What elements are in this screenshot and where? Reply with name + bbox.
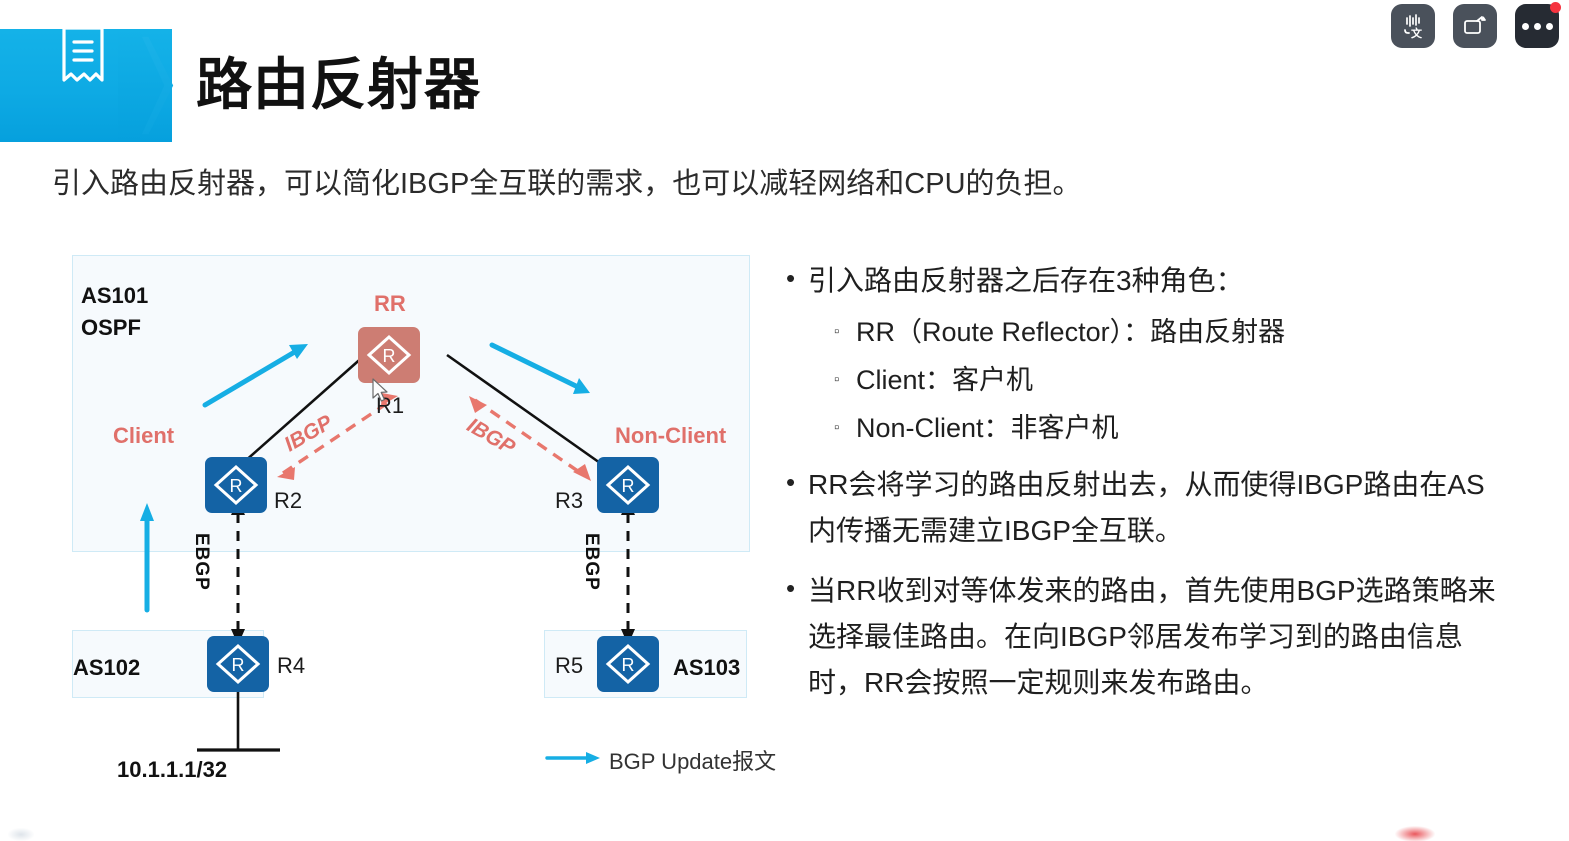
network-topology-diagram: R R R R R AS10 — [55, 245, 775, 790]
mouse-cursor — [371, 378, 389, 409]
bullet-item: • RR会将学习的路由反射出去，从而使得IBGP路由在AS内传播无需建立IBGP… — [786, 462, 1546, 554]
translate-subtitle-button[interactable]: 文 — [1391, 4, 1435, 48]
bullet-item: • 引入路由反射器之后存在3种角色： — [786, 258, 1546, 304]
legend-label: BGP Update报文 — [609, 744, 776, 776]
footer-logo-partial — [1395, 826, 1435, 841]
bullet-text: RR会将学习的路由反射出去，从而使得IBGP路由在AS内传播无需建立IBGP全互… — [808, 462, 1498, 554]
bullet-text: 当RR收到对等体发来的路由，首先使用BGP选路策略来选择最佳路由。在向IBGP邻… — [808, 568, 1498, 706]
svg-text:R: R — [622, 655, 635, 675]
bullet-marker-icon: • — [786, 462, 808, 502]
bullet-marker-icon: • — [786, 568, 808, 608]
router-r4[interactable]: R — [207, 636, 269, 692]
picture-in-picture-icon — [1462, 14, 1488, 38]
document-receipt-icon — [52, 22, 114, 99]
slide-subtitle: 引入路由反射器，可以简化IBGP全互联的需求，也可以减轻网络和CPU的负担。 — [52, 160, 1082, 202]
router-r3-nonclient[interactable]: R — [597, 457, 659, 513]
bullet-marker-icon: • — [786, 258, 808, 298]
sub-bullet-item: ▫ RR（Route Reflector）：路由反射器 — [834, 312, 1546, 352]
svg-text:文: 文 — [1411, 26, 1423, 39]
sub-bullet-text: Client：客户机 — [856, 360, 1033, 400]
bullet-text: 引入路由反射器之后存在3种角色： — [808, 258, 1244, 304]
footer-mark-partial — [8, 828, 34, 841]
router-r2-client[interactable]: R — [205, 457, 267, 513]
router-r1-rr[interactable]: R — [358, 327, 420, 383]
router-r5-label: R5 — [555, 653, 583, 679]
ebgp-right-label: EBGP — [580, 533, 602, 591]
ebgp-left-label: EBGP — [190, 533, 212, 591]
sub-bullet-item: ▫ Client：客户机 — [834, 360, 1546, 400]
sub-bullet-text: Non-Client：非客户机 — [856, 408, 1119, 448]
svg-text:R: R — [383, 346, 396, 366]
svg-text:R: R — [232, 655, 245, 675]
notification-dot — [1550, 2, 1561, 13]
as101-label: AS101 — [81, 283, 148, 309]
floating-toolbar: 文 — [1391, 4, 1559, 48]
more-options-button[interactable] — [1515, 4, 1559, 48]
router-r4-label: R4 — [277, 653, 305, 679]
bullet-panel: • 引入路由反射器之后存在3种角色： ▫ RR（Route Reflector）… — [786, 258, 1546, 710]
router-r5[interactable]: R — [597, 636, 659, 692]
network-prefix-label: 10.1.1.1/32 — [117, 757, 227, 783]
picture-in-picture-button[interactable] — [1453, 4, 1497, 48]
translate-subtitle-icon: 文 — [1400, 13, 1426, 39]
sub-bullet-text: RR（Route Reflector）：路由反射器 — [856, 312, 1285, 352]
sub-bullet-marker-icon: ▫ — [834, 312, 856, 352]
more-options-icon — [1522, 23, 1553, 30]
bullet-item: • 当RR收到对等体发来的路由，首先使用BGP选路策略来选择最佳路由。在向IBG… — [786, 568, 1546, 706]
nonclient-role-label: Non-Client — [615, 423, 726, 449]
sub-bullet-item: ▫ Non-Client：非客户机 — [834, 408, 1546, 448]
svg-text:R: R — [622, 476, 635, 496]
svg-text:R: R — [230, 476, 243, 496]
page-title: 路由反射器 — [196, 40, 481, 121]
router-r2-label: R2 — [274, 488, 302, 514]
client-role-label: Client — [113, 423, 174, 449]
as102-label: AS102 — [73, 655, 140, 681]
ospf-label: OSPF — [81, 315, 141, 341]
sub-bullet-marker-icon: ▫ — [834, 408, 856, 448]
as103-label: AS103 — [673, 655, 740, 681]
router-r3-label: R3 — [555, 488, 583, 514]
slide-root: 文 路由反射器 — [0, 0, 1569, 841]
rr-role-label: RR — [374, 291, 406, 317]
sub-bullet-marker-icon: ▫ — [834, 360, 856, 400]
